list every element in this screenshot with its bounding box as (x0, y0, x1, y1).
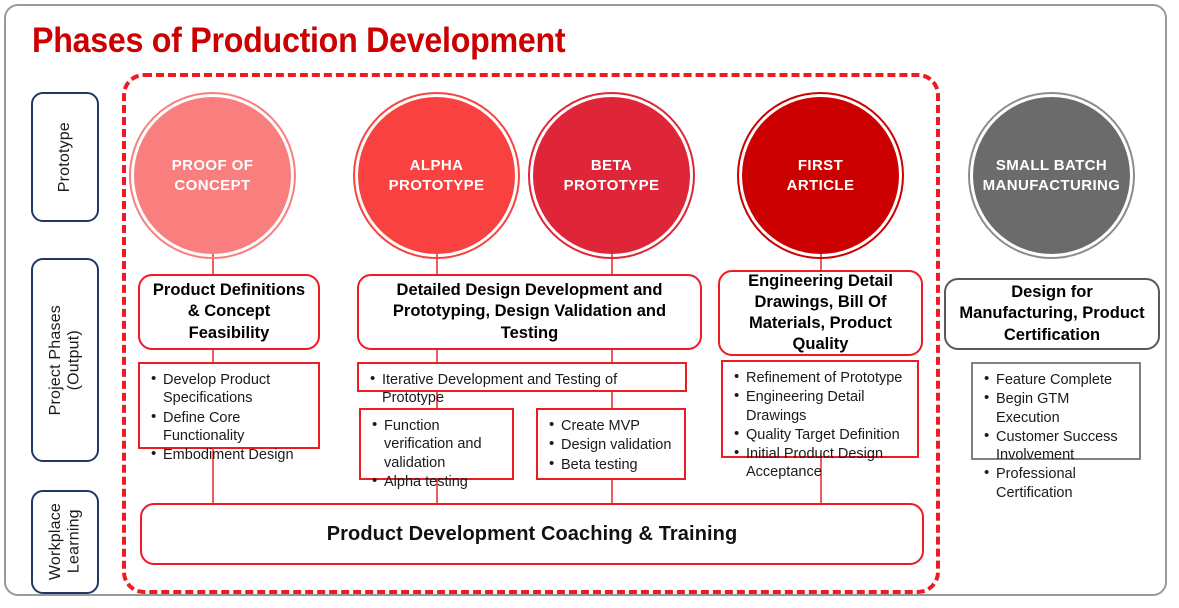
diagram-canvas: Phases of Production Development Prototy… (0, 0, 1179, 608)
bullet-list-iterative: Iterative Development and Testing of Pro… (369, 371, 676, 408)
list-item: Engineering Detail Drawings (733, 388, 908, 425)
row-label-prototype-text: Prototype (56, 122, 74, 192)
bullet-box-product-definitions[interactable]: Develop Product Specifications Define Co… (138, 362, 320, 449)
list-item: Define Core Functionality (150, 409, 309, 446)
bullet-list-engineering: Refinement of Prototype Engineering Deta… (733, 369, 908, 482)
circle-label-alpha-line1: ALPHA (389, 156, 485, 175)
list-item: Embodiment Design (150, 446, 309, 464)
list-item: Design validation (548, 436, 675, 454)
bullet-box-engineering[interactable]: Refinement of Prototype Engineering Deta… (721, 360, 919, 458)
row-label-workplace-learning-text: Workplace Learning (47, 503, 84, 580)
row-label-project-phases-text: Project Phases (Output) (47, 305, 84, 415)
circle-fill-small-batch: SMALL BATCH MANUFACTURING (973, 97, 1130, 254)
bullet-box-iterative[interactable]: Iterative Development and Testing of Pro… (357, 362, 687, 392)
bullet-list-product-definitions: Develop Product Specifications Define Co… (150, 371, 309, 464)
circle-label-small-batch-line2: MANUFACTURING (983, 176, 1121, 195)
list-item: Refinement of Prototype (733, 369, 908, 387)
circle-fill-alpha-prototype: ALPHA PROTOTYPE (358, 97, 515, 254)
circle-label-beta-line2: PROTOTYPE (564, 176, 660, 195)
circle-label-alpha-line2: PROTOTYPE (389, 176, 485, 195)
list-item: Iterative Development and Testing of Pro… (369, 371, 676, 408)
bullet-box-beta[interactable]: Create MVP Design validation Beta testin… (536, 408, 686, 480)
header-box-detailed-design[interactable]: Detailed Design Development and Prototyp… (357, 274, 702, 350)
circle-beta-prototype[interactable]: BETA PROTOTYPE (528, 92, 695, 259)
list-item: Quality Target Definition (733, 426, 908, 444)
circle-fill-first-article: FIRST ARTICLE (742, 97, 899, 254)
list-item: Customer Success Involvement (983, 428, 1130, 465)
list-item: Alpha testing (371, 473, 503, 491)
circle-first-article[interactable]: FIRST ARTICLE (737, 92, 904, 259)
bullet-list-alpha: Function verification and validation Alp… (371, 417, 503, 491)
bullet-box-design-for-manufacturing[interactable]: Feature Complete Begin GTM Execution Cus… (971, 362, 1141, 460)
bottom-banner-coaching-training[interactable]: Product Development Coaching & Training (140, 503, 924, 565)
circle-label-first-article-line1: FIRST (787, 156, 855, 175)
connector-detailed-to-iterative-left (436, 350, 438, 362)
connector-beta-to-banner (611, 480, 613, 505)
circle-fill-proof-of-concept: PROOF OF CONCEPT (134, 97, 291, 254)
bullet-list-design-for-manufacturing: Feature Complete Begin GTM Execution Cus… (983, 371, 1130, 502)
list-item: Feature Complete (983, 371, 1130, 389)
page-title: Phases of Production Development (32, 21, 565, 61)
list-item: Professional Certification (983, 465, 1130, 502)
circle-label-small-batch-line1: SMALL BATCH (983, 156, 1121, 175)
circle-label-first-article-line2: ARTICLE (787, 176, 855, 195)
circle-label-beta-line1: BETA (564, 156, 660, 175)
header-box-engineering-detail[interactable]: Engineering Detail Drawings, Bill Of Mat… (718, 270, 923, 356)
circle-fill-beta-prototype: BETA PROTOTYPE (533, 97, 690, 254)
header-box-product-definitions[interactable]: Product Definitions & Concept Feasibilit… (138, 274, 320, 350)
list-item: Begin GTM Execution (983, 390, 1130, 427)
connector-detailed-to-iterative-right (611, 350, 613, 362)
connector-poc-header-to-bullets (212, 350, 214, 362)
list-item: Develop Product Specifications (150, 371, 309, 408)
bullet-box-alpha[interactable]: Function verification and validation Alp… (359, 408, 514, 480)
row-label-workplace-learning: Workplace Learning (31, 490, 99, 594)
list-item: Beta testing (548, 456, 675, 474)
circle-small-batch-manufacturing[interactable]: SMALL BATCH MANUFACTURING (968, 92, 1135, 259)
circle-label-poc-line2: CONCEPT (172, 176, 254, 195)
list-item: Initial Product Design Acceptance (733, 445, 908, 482)
list-item: Function verification and validation (371, 417, 503, 472)
row-label-project-phases: Project Phases (Output) (31, 258, 99, 462)
circle-label-poc-line1: PROOF OF (172, 156, 254, 175)
bullet-list-beta: Create MVP Design validation Beta testin… (548, 417, 675, 474)
list-item: Create MVP (548, 417, 675, 435)
circle-alpha-prototype[interactable]: ALPHA PROTOTYPE (353, 92, 520, 259)
circle-proof-of-concept[interactable]: PROOF OF CONCEPT (129, 92, 296, 259)
header-box-design-for-manufacturing[interactable]: Design for Manufacturing, Product Certif… (944, 278, 1160, 350)
row-label-prototype: Prototype (31, 92, 99, 222)
